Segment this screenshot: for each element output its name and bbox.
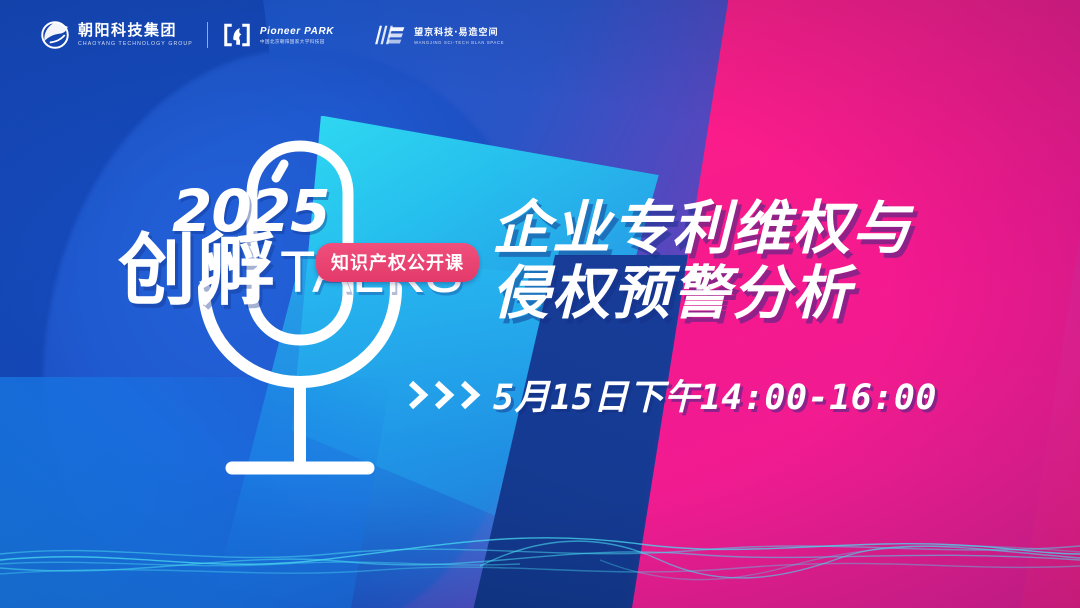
brand-name-cn: 创孵 [118,234,276,308]
logo-divider-1 [207,22,208,48]
wangjing-space-icon [372,21,406,49]
logo-wangjing: 望京科技·易造空间 WANGJING SCI-TECH BLAN SPACE [372,21,504,49]
logo-wangjing-name-en: WANGJING SCI-TECH BLAN SPACE [414,40,504,45]
logo-chaoyang: 朝阳科技集团 CHAOYANG TECHNOLOGY GROUP [40,20,193,50]
logo-chaoyang-name-cn: 朝阳科技集团 [78,23,193,39]
schedule-date-time: 5月15日下午14:00-16:00 [493,369,937,420]
logo-chaoyang-name-en: CHAOYANG TECHNOLOGY GROUP [78,41,193,47]
logo-wangjing-name-cn: 望京科技·易造空间 [414,25,504,38]
pioneer-park-icon [222,21,252,49]
course-badge: 知识产权公开课 [316,243,479,282]
sound-wave-lines [0,488,1080,608]
logo-bar: 朝阳科技集团 CHAOYANG TECHNOLOGY GROUP Pioneer… [40,20,504,50]
main-title-line-1: 企业专利维权与 [492,196,912,261]
schedule-row: 5月15日下午14:00-16:00 [408,369,937,420]
logo-pioneer-park: Pioneer PARK 中国北京朝阳国家大学科技园 [222,21,334,49]
chevron-right-icon [408,380,430,410]
main-title: 企业专利维权与 侵权预警分析 [492,196,912,326]
logo-pioneer-name-en: Pioneer PARK [260,26,334,37]
chevron-right-icon [460,380,482,410]
chevron-group [408,380,482,410]
poster-canvas: 朝阳科技集团 CHAOYANG TECHNOLOGY GROUP Pioneer… [0,0,1080,608]
brand-block: 2025 创孵 TALKS 知识产权公开课 [118,185,518,308]
chevron-right-icon [434,380,456,410]
chaoyang-globe-icon [40,20,70,50]
main-title-line-2: 侵权预警分析 [492,261,912,326]
logo-pioneer-name-cn: 中国北京朝阳国家大学科技园 [260,39,334,45]
